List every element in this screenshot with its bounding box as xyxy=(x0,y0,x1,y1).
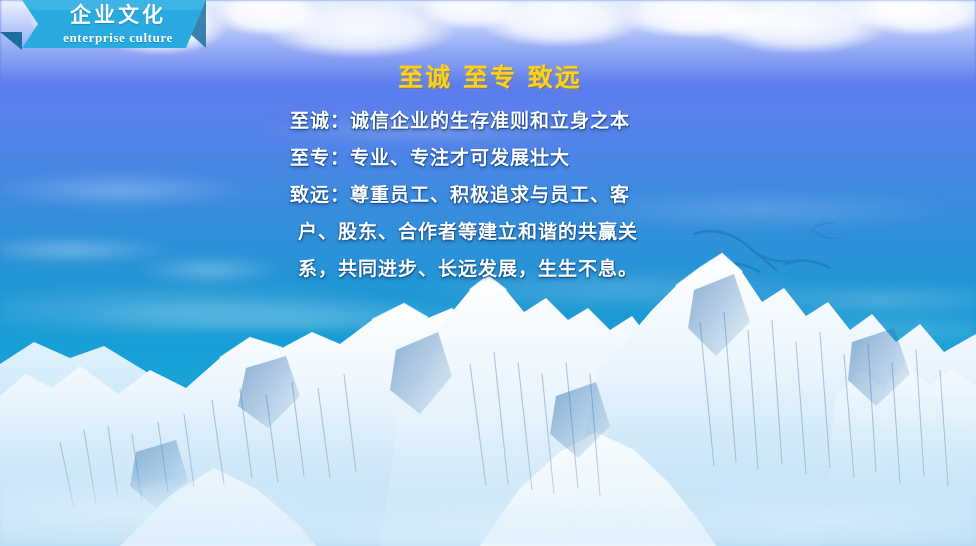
culture-line-1: 至诚：诚信企业的生存准则和立身之本 xyxy=(290,103,690,140)
culture-line-2: 至专：专业、专注才可发展壮大 xyxy=(290,140,690,177)
culture-line-4: 户、股东、合作者等建立和谐的共赢关 xyxy=(290,214,690,251)
hero-banner-scene: 企业文化 enterprise culture 至诚 至专 致远 至诚：诚信企业… xyxy=(0,0,976,546)
page-title: 至诚 至专 致远 xyxy=(290,62,690,93)
top-right-cloud xyxy=(620,0,976,60)
enterprise-culture-ribbon[interactable]: 企业文化 enterprise culture xyxy=(0,0,230,52)
culture-line-3: 致远：尊重员工、积极追求与员工、客 xyxy=(290,177,690,214)
culture-line-5: 系，共同进步、长远发展，生生不息。 xyxy=(290,251,690,288)
snow-mountain-range xyxy=(0,246,976,546)
culture-copy-block: 至诚 至专 致远 至诚：诚信企业的生存准则和立身之本 至专：专业、专注才可发展壮… xyxy=(290,62,690,288)
